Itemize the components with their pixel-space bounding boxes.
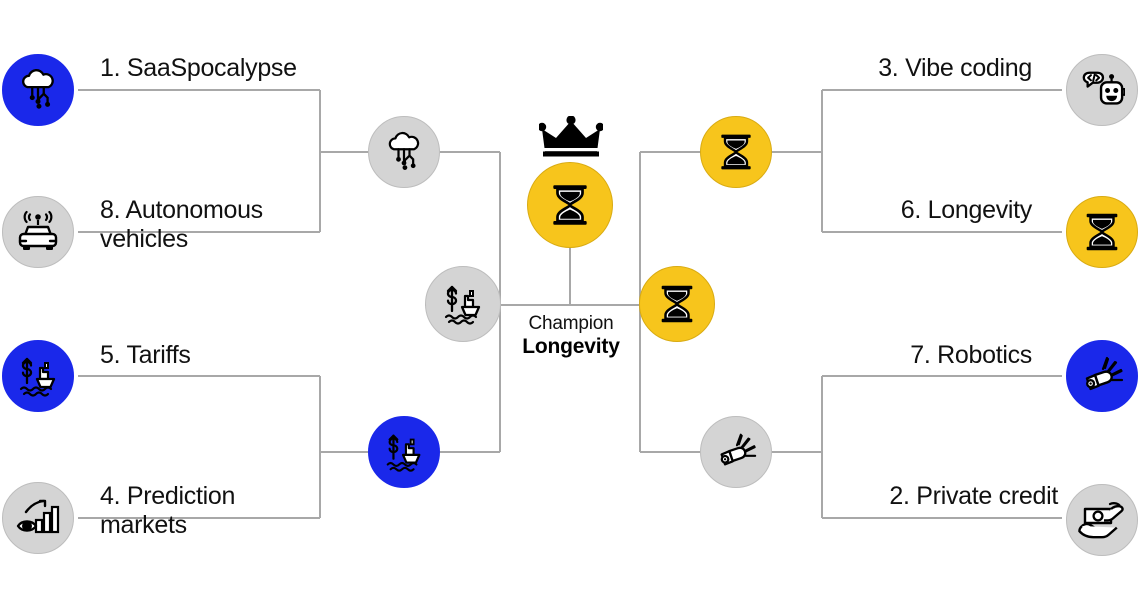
robot-code-icon [1079,67,1125,113]
cargo-ship-dollar-icon [439,280,487,328]
champion-caption: Champion Longevity [500,313,642,359]
match-label-seed-4: 4. Prediction markets [100,482,235,539]
robot-hand-icon [1078,352,1126,400]
left-semifinal-winner-tariffs[interactable] [368,416,440,488]
eye-bar-chart-icon [14,494,62,542]
match-label-seed-1: 1. SaaSpocalypse [100,54,297,83]
champion-name: Longevity [500,335,642,359]
seed-1-icon-badge[interactable] [2,54,74,126]
left-finalist-tariffs[interactable] [425,266,501,342]
seed-7-icon-badge[interactable] [1066,340,1138,412]
hourglass-icon [1079,209,1125,255]
right-finalist-longevity[interactable] [639,266,715,342]
autonomous-car-icon [14,208,62,256]
seed-3-icon-badge[interactable] [1066,54,1138,126]
robot-hand-icon [713,429,759,475]
match-label-seed-3: 3. Vibe coding [878,54,1032,83]
cargo-ship-dollar-icon [14,352,62,400]
seed-8-icon-badge[interactable] [2,196,74,268]
cash-in-hand-icon [1078,496,1126,544]
hourglass-icon [714,130,758,174]
hourglass-icon [654,281,700,327]
cloud-circuit-icon [382,130,426,174]
right-semifinal-winner-longevity[interactable] [700,116,772,188]
right-semifinal-winner-robotics[interactable] [700,416,772,488]
match-label-seed-2: 2. Private credit [889,482,1058,511]
match-label-seed-8: 8. Autonomous vehicles [100,196,263,253]
champion-badge[interactable] [527,162,613,248]
left-semifinal-winner-saaspocalypse[interactable] [368,116,440,188]
crown-icon [539,116,603,163]
seed-4-icon-badge[interactable] [2,482,74,554]
match-label-seed-5: 5. Tariffs [100,341,191,370]
hourglass-icon [545,180,595,230]
cloud-circuit-icon [15,67,61,113]
seed-2-icon-badge[interactable] [1066,484,1138,556]
champion-label: Champion [500,313,642,335]
cargo-ship-dollar-icon [381,429,427,475]
seed-5-icon-badge[interactable] [2,340,74,412]
tournament-bracket: 1. SaaSpocalypse 8. Autonomous vehicles … [0,0,1140,600]
seed-6-icon-badge[interactable] [1066,196,1138,268]
match-label-seed-7: 7. Robotics [910,341,1032,370]
match-label-seed-6: 6. Longevity [901,196,1032,225]
